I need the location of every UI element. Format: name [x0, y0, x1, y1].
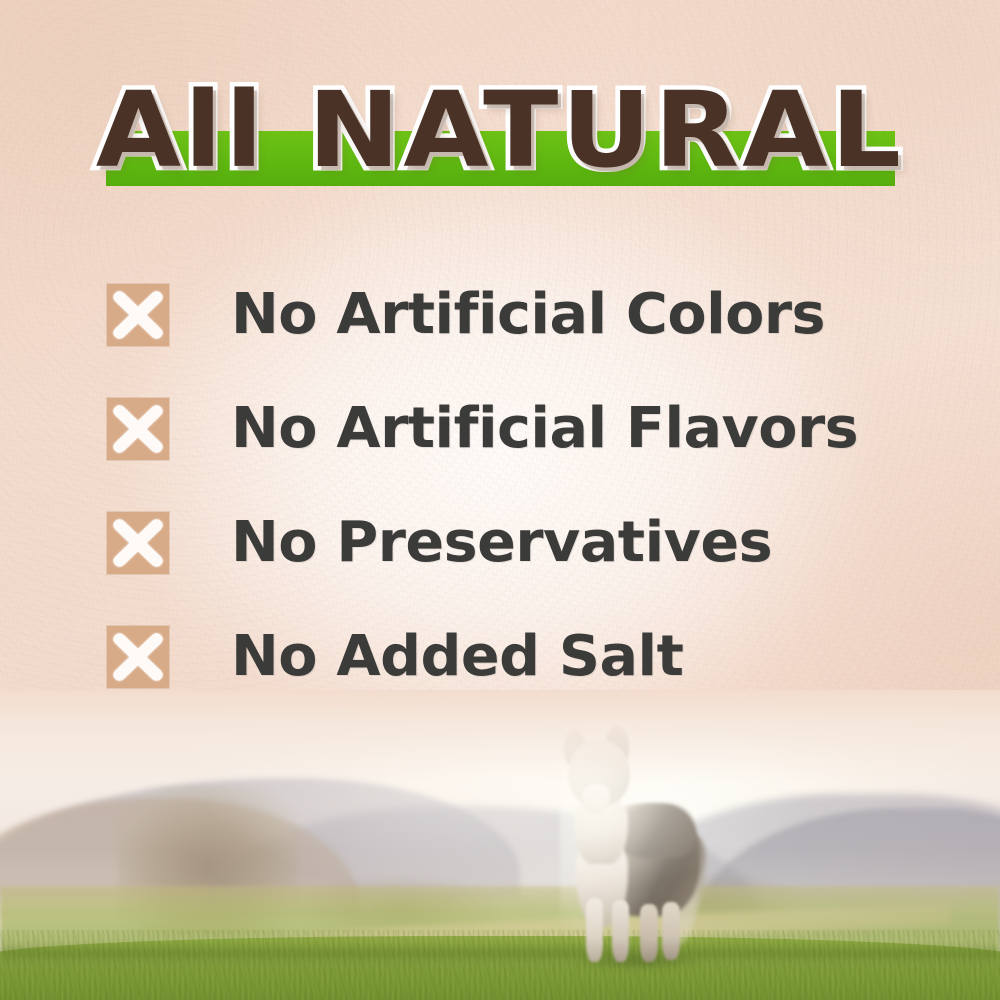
dog-front-right-leg [612, 900, 629, 962]
dog-back-left-leg [640, 904, 658, 962]
dog-back-right-leg [662, 902, 680, 960]
benefits-list: No Artificial Colors No Artificial Flavo… [107, 258, 907, 714]
benefit-label: No Added Salt [231, 627, 683, 687]
list-item: No Preservatives [107, 486, 907, 600]
grass-shadow [0, 948, 1000, 968]
x-mark-icon [107, 626, 169, 688]
dog-front-left-leg [586, 898, 603, 962]
headline-text: All NATURAL [0, 74, 1000, 186]
benefit-label: No Artificial Colors [231, 285, 825, 345]
dog [530, 712, 720, 970]
x-mark-icon [107, 284, 169, 346]
benefit-label: No Preservatives [231, 513, 772, 573]
landscape-photo [0, 690, 1000, 1000]
benefit-label: No Artificial Flavors [231, 399, 858, 459]
x-mark-icon [107, 398, 169, 460]
headline-block: All NATURAL [0, 74, 1000, 196]
all-natural-product-poster: All NATURAL No Artificial Colors No Arti… [0, 0, 1000, 1000]
x-mark-icon [107, 512, 169, 574]
list-item: No Artificial Flavors [107, 372, 907, 486]
list-item: No Artificial Colors [107, 258, 907, 372]
